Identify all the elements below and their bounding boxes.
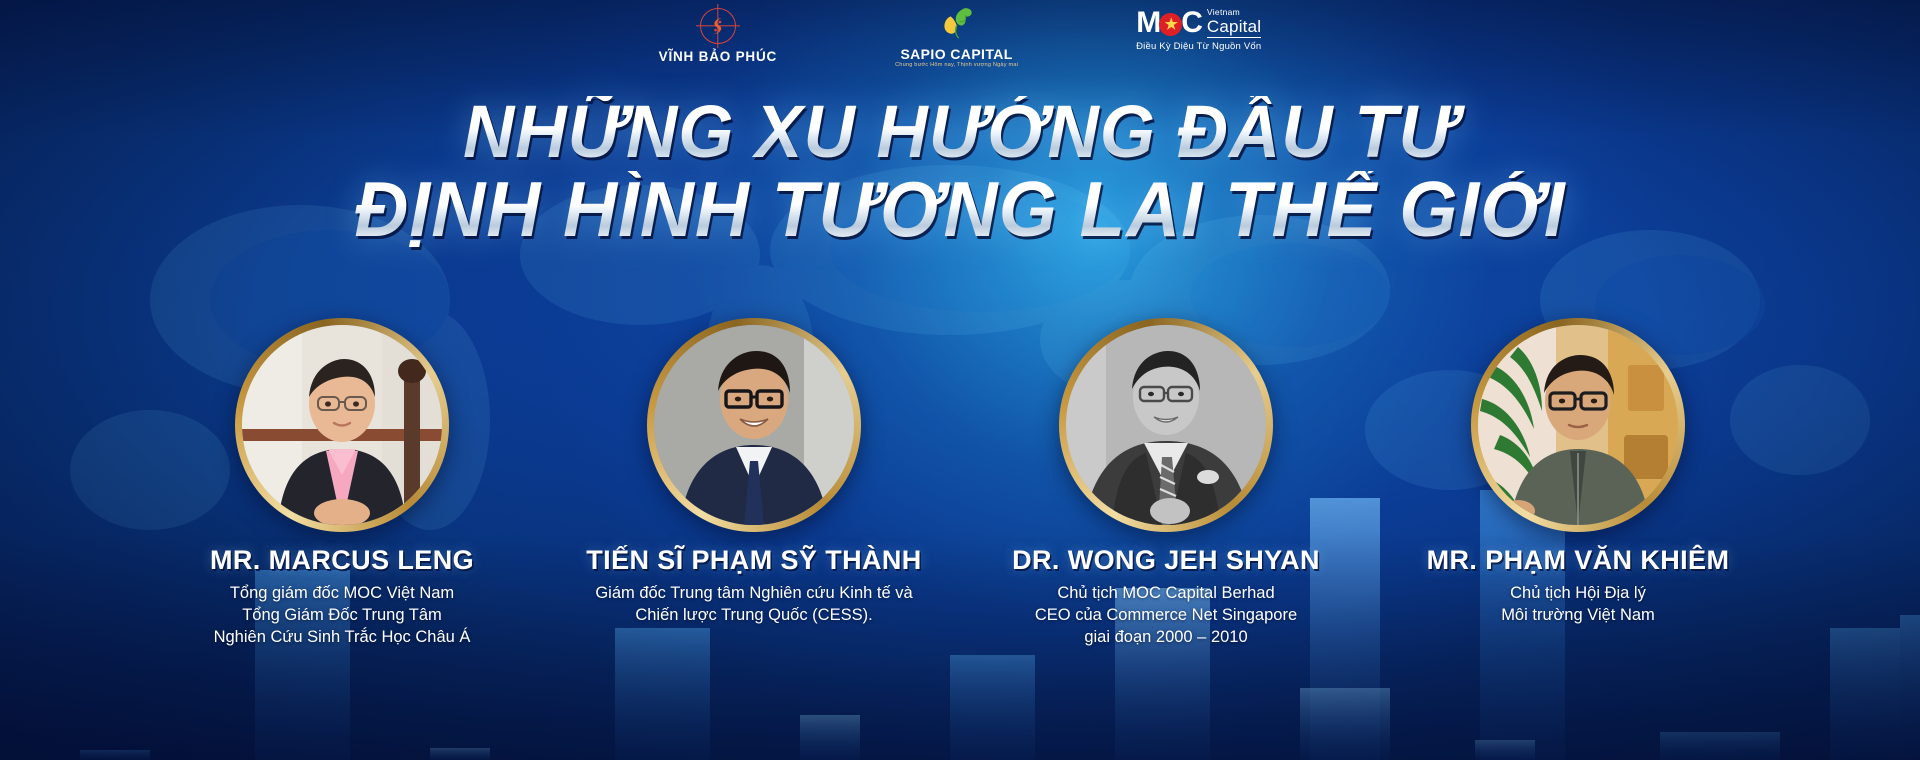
logo-label: SAPIO CAPITAL xyxy=(900,47,1012,61)
speaker-role-line: Nghiên Cứu Sinh Trắc Học Châu Á xyxy=(214,627,471,649)
speaker-role: Chủ tịch Hội Địa lý Môi trường Việt Nam xyxy=(1501,583,1655,627)
speaker-portrait-frame xyxy=(1471,318,1685,532)
speaker-card: MR. MARCUS LENG Tổng giám đốc MOC Việt N… xyxy=(172,318,512,649)
speaker-role: Chủ tịch MOC Capital Berhad CEO của Comm… xyxy=(1035,583,1297,648)
logo-label: VĨNH BẢO PHÚC xyxy=(659,50,777,64)
speaker-portrait-frame xyxy=(647,318,861,532)
speaker-role: Tổng giám đốc MOC Việt Nam Tổng Giám Đốc… xyxy=(214,583,471,648)
logo-vietnam-label: Vietnam xyxy=(1207,8,1240,17)
event-title: NHỮNG XU HƯỚNG ĐẦU TƯ ĐỊNH HÌNH TƯƠNG LA… xyxy=(0,96,1920,247)
speaker-role-line: Tổng giám đốc MOC Việt Nam xyxy=(214,583,471,605)
avatar xyxy=(654,325,854,525)
sponsor-logo-row: VĨNH BẢO PHÚC SAPIO CAPITAL Chung bước H… xyxy=(0,8,1920,70)
vietnam-flag-circle-icon: ★ xyxy=(1159,13,1182,36)
logo-tagline: Chung bước Hôm nay, Thịnh vượng Ngày mai xyxy=(895,63,1018,69)
speaker-role-line: Giám đốc Trung tâm Nghiên cứu Kinh tế và xyxy=(595,583,912,605)
speaker-card: DR. WONG JEH SHYAN Chủ tịch MOC Capital … xyxy=(996,318,1336,649)
speaker-card: TIẾN SĨ PHẠM SỸ THÀNH Giám đốc Trung tâm… xyxy=(584,318,924,627)
speaker-name: TIẾN SĨ PHẠM SỸ THÀNH xyxy=(586,546,921,574)
logo-capital-label: Capital xyxy=(1207,18,1261,35)
speaker-role-line: CEO của Commerce Net Singapore xyxy=(1035,605,1297,627)
compass-yinyang-icon xyxy=(700,8,736,44)
speaker-role-line: Chủ tịch Hội Địa lý xyxy=(1501,583,1655,605)
speaker-role-line: giai đoạn 2000 – 2010 xyxy=(1035,627,1297,649)
speaker-role: Giám đốc Trung tâm Nghiên cứu Kinh tế và… xyxy=(595,583,912,627)
avatar xyxy=(1066,325,1266,525)
logo-tagline: Điều Kỳ Diệu Từ Nguồn Vốn xyxy=(1136,42,1261,52)
moc-wordmark: M ★ C xyxy=(1136,8,1202,38)
event-banner: VĨNH BẢO PHÚC SAPIO CAPITAL Chung bước H… xyxy=(0,0,1920,760)
title-line-1: NHỮNG XU HƯỚNG ĐẦU TƯ xyxy=(38,96,1881,169)
speaker-list: MR. MARCUS LENG Tổng giám đốc MOC Việt N… xyxy=(0,318,1920,649)
title-line-2: ĐỊNH HÌNH TƯƠNG LAI THẾ GIỚI xyxy=(38,171,1881,247)
logo-moc-vietnam-capital: M ★ C Vietnam Capital Điều Kỳ Diệu Từ Ng… xyxy=(1136,8,1261,52)
avatar xyxy=(242,325,442,525)
speaker-role-line: Chủ tịch MOC Capital Berhad xyxy=(1035,583,1297,605)
speaker-role-line: Môi trường Việt Nam xyxy=(1501,605,1655,627)
clover-leaf-icon xyxy=(937,8,977,42)
logo-underline xyxy=(1207,37,1261,38)
speaker-name: MR. PHẠM VĂN KHIÊM xyxy=(1427,546,1730,574)
speaker-name: DR. WONG JEH SHYAN xyxy=(1012,546,1320,574)
speaker-portrait-frame xyxy=(235,318,449,532)
speaker-role-line: Tổng Giám Đốc Trung Tâm xyxy=(214,605,471,627)
speaker-card: MR. PHẠM VĂN KHIÊM Chủ tịch Hội Địa lý M… xyxy=(1408,318,1748,627)
speaker-name: MR. MARCUS LENG xyxy=(210,546,474,574)
speaker-portrait-frame xyxy=(1059,318,1273,532)
avatar xyxy=(1478,325,1678,525)
logo-sapio-capital: SAPIO CAPITAL Chung bước Hôm nay, Thịnh … xyxy=(895,8,1018,69)
speaker-role-line: Chiến lược Trung Quốc (CESS). xyxy=(595,605,912,627)
logo-vinh-bao-phuc: VĨNH BẢO PHÚC xyxy=(659,8,777,64)
